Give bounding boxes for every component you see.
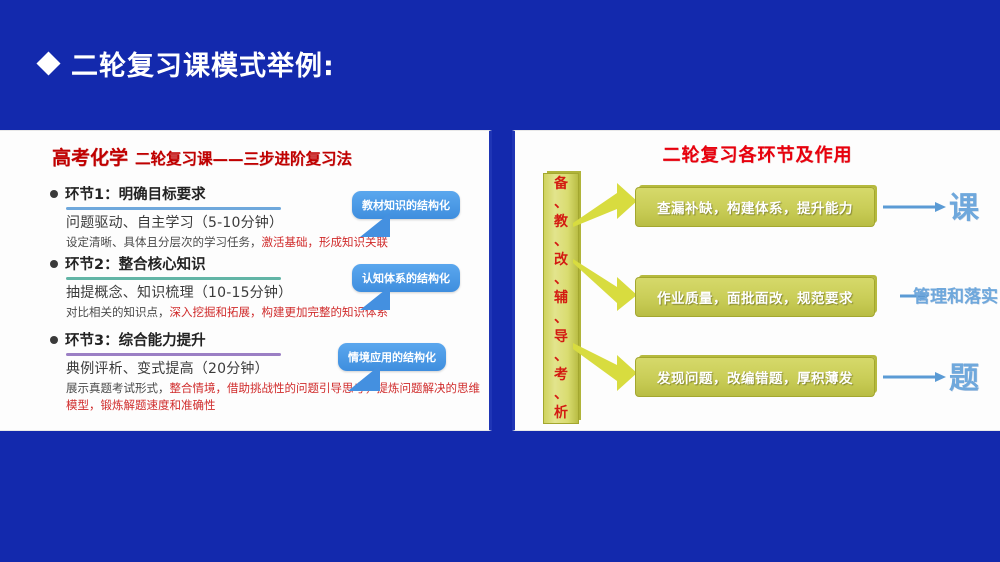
result-label-3: 题	[949, 353, 979, 397]
callout-tail-icon	[360, 286, 390, 310]
section-3-rule	[66, 353, 281, 356]
vchar-12: 析	[554, 406, 568, 420]
bullet-dot-icon	[50, 190, 58, 198]
left-panel: 高考化学 二轮复习课——三步进阶复习法 环节1：明确目标要求 问题驱动、自主学习…	[0, 130, 492, 431]
effect-box-1: 查漏补缺，构建体系，提升能力	[635, 187, 875, 227]
vchar-10: 考	[554, 368, 568, 382]
section-2-line2-plain: 对比相关的知识点，	[66, 305, 170, 319]
yellow-arrow-3	[573, 343, 643, 399]
right-panel-title: 二轮复习各环节及作用	[515, 141, 1000, 167]
section-step-3: 环节3：综合能力提升 典例评析、变式提高（20分钟） 展示真题考试形式，整合情境…	[50, 329, 480, 413]
bullet-dot-icon	[50, 260, 58, 268]
right-panel: 二轮复习各环节及作用 备 、 教 、 改 、 辅 、 导 、 考 、 析	[512, 130, 1000, 431]
result-label-1: 课	[949, 183, 979, 227]
left-panel-header: 高考化学 二轮复习课——三步进阶复习法	[52, 143, 352, 170]
section-3-line2-plain: 展示真题考试形式，	[66, 381, 170, 395]
section-2-rule	[66, 277, 281, 280]
vchar-11: 、	[554, 387, 568, 401]
effect-box-2-text: 作业质量，面批面改，规范要求	[657, 287, 853, 307]
section-1-line2-highlight: 激活基础，形成知识关联	[262, 235, 389, 249]
vchar-2: 教	[554, 215, 568, 229]
section-2-heading-text: 环节2：整合核心知识	[65, 253, 206, 274]
section-1-line2: 设定清晰、具体且分层次的学习任务，激活基础，形成知识关联	[66, 234, 480, 251]
section-1-line2-plain: 设定清晰、具体且分层次的学习任务，	[66, 235, 262, 249]
slide-canvas: 二轮复习课模式举例: 高考化学 二轮复习课——三步进阶复习法 环节1：明确目标要…	[0, 0, 1000, 562]
section-2-line2: 对比相关的知识点，深入挖掘和拓展，构建更加完整的知识体系	[66, 304, 480, 321]
left-panel-header-sub: 二轮复习课——三步进阶复习法	[135, 147, 352, 169]
vchar-1: 、	[554, 196, 568, 210]
effect-box-3: 发现问题，改编错题，厚积薄发	[635, 357, 875, 397]
section-1-rule	[66, 207, 281, 210]
diamond-icon	[36, 51, 60, 75]
vchar-0: 备	[554, 177, 568, 191]
vchar-6: 辅	[554, 291, 568, 305]
section-3-heading-text: 环节3：综合能力提升	[65, 329, 206, 350]
result-label-2: 管理和落实	[913, 282, 998, 307]
page-title: 二轮复习课模式举例:	[40, 44, 335, 83]
callout-bubble-1: 教材知识的结构化	[352, 191, 460, 219]
vchar-3: 、	[554, 234, 568, 248]
callout-tail-icon	[348, 365, 380, 391]
callout-bubble-2-text: 认知体系的结构化	[362, 272, 450, 285]
left-panel-header-main: 高考化学	[52, 143, 128, 170]
vchar-5: 、	[554, 272, 568, 286]
effect-box-3-text: 发现问题，改编错题，厚积薄发	[657, 367, 853, 387]
blue-arrow-1	[883, 201, 947, 213]
page-title-text: 二轮复习课模式举例:	[71, 44, 335, 83]
vchar-8: 导	[554, 330, 568, 344]
callout-bubble-2: 认知体系的结构化	[352, 264, 460, 292]
callout-bubble-1-text: 教材知识的结构化	[362, 199, 450, 212]
section-3-line2: 展示真题考试形式，整合情境，借助挑战性的问题引导思考，提炼问题解决的思维模型，锻…	[66, 380, 486, 413]
callout-bubble-3-text: 情境应用的结构化	[348, 351, 436, 364]
callout-bubble-3: 情境应用的结构化	[338, 343, 446, 371]
section-1-heading-text: 环节1：明确目标要求	[65, 183, 206, 204]
callout-tail-icon	[360, 213, 390, 237]
bullet-dot-icon	[50, 336, 58, 344]
effect-box-1-text: 查漏补缺，构建体系，提升能力	[657, 197, 853, 217]
yellow-arrow-2	[573, 251, 643, 311]
vchar-7: 、	[554, 311, 568, 325]
section-2-line2-highlight: 深入挖掘和拓展，构建更加完整的知识体系	[170, 305, 389, 319]
vchar-9: 、	[554, 349, 568, 363]
yellow-arrow-1	[573, 177, 643, 227]
vchar-4: 改	[554, 253, 568, 267]
effect-box-2: 作业质量，面批面改，规范要求	[635, 277, 875, 317]
blue-arrow-3	[883, 371, 947, 383]
